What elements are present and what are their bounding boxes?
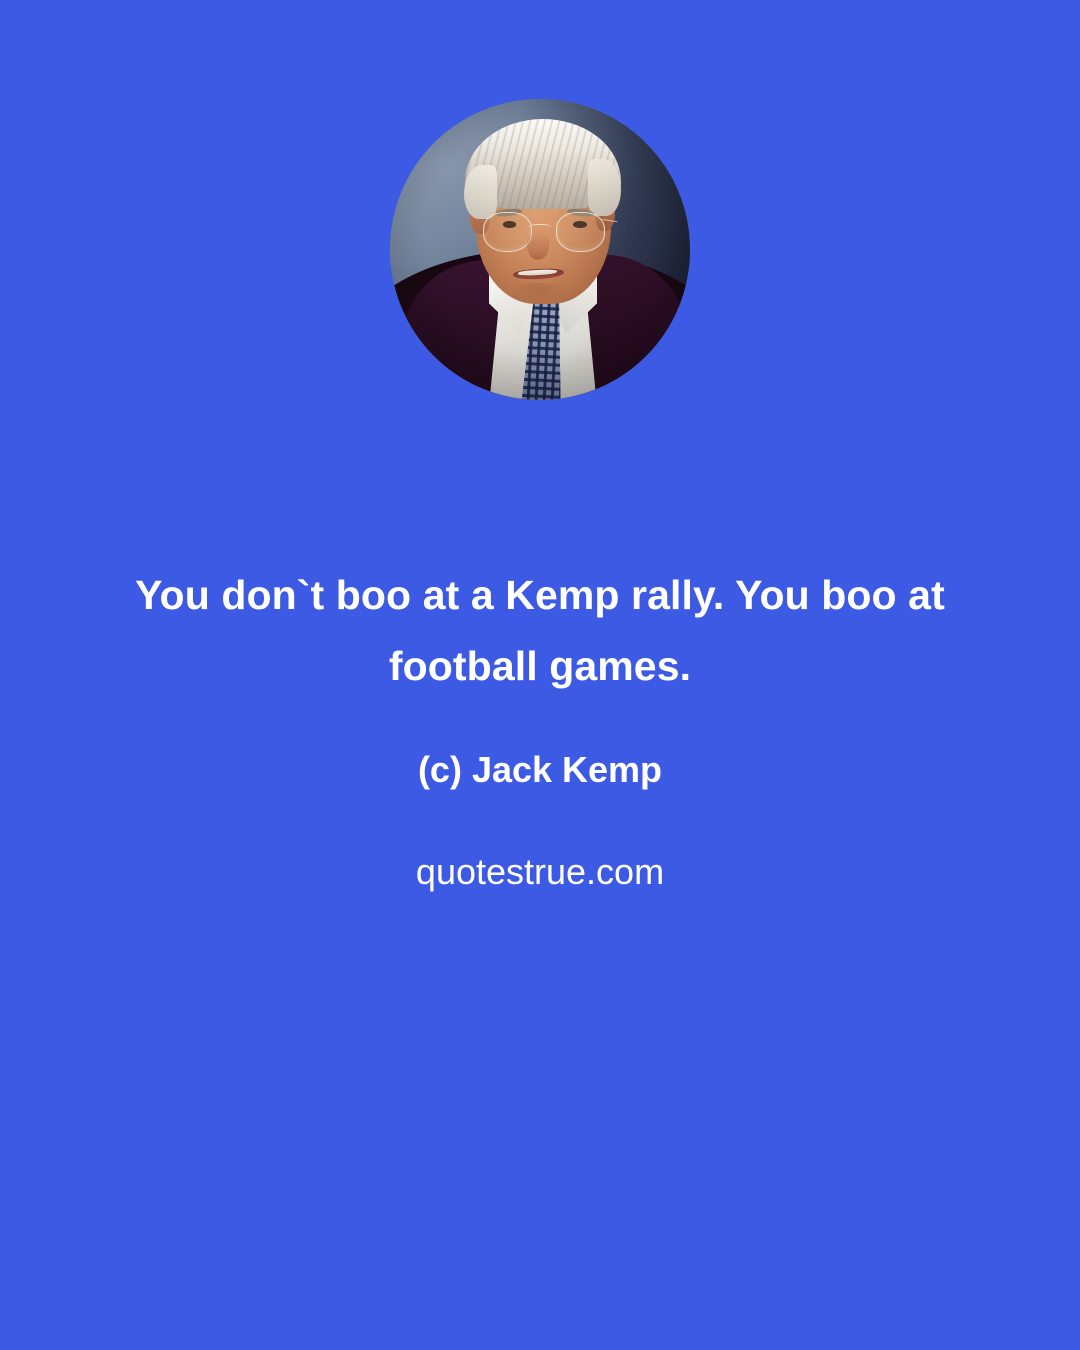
portrait-glasses-lens-left bbox=[483, 212, 532, 252]
portrait-hair-side-left bbox=[464, 165, 497, 219]
quote-attribution: (c) Jack Kemp bbox=[70, 741, 1010, 799]
portrait-glasses-lens-right bbox=[556, 212, 605, 252]
portrait-avatar bbox=[390, 99, 690, 400]
quote-text: You don`t boo at a Kemp rally. You boo a… bbox=[70, 560, 1010, 701]
quote-text-block: You don`t boo at a Kemp rally. You boo a… bbox=[0, 560, 1080, 900]
portrait-nose bbox=[527, 231, 550, 260]
portrait-image bbox=[390, 99, 690, 400]
quote-card: You don`t boo at a Kemp rally. You boo a… bbox=[0, 0, 1080, 1350]
site-watermark: quotestrue.com bbox=[70, 843, 1010, 901]
portrait-hair-side-right bbox=[588, 159, 621, 216]
portrait-chin bbox=[510, 283, 567, 304]
